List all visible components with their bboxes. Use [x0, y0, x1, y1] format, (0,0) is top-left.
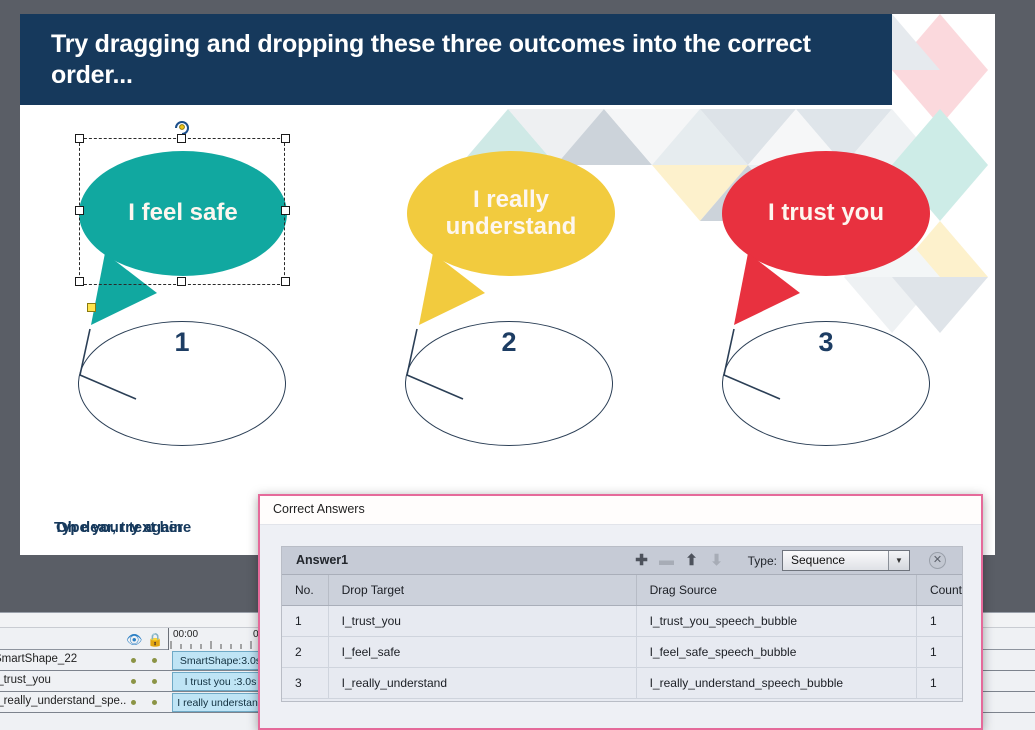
dialog-titlebar[interactable]: Correct Answers	[260, 496, 981, 525]
table-row[interactable]: 1 I_trust_you I_trust_you_speech_bubble …	[282, 605, 962, 636]
close-icon[interactable]: ✕	[929, 552, 946, 569]
resize-handle-ne[interactable]	[281, 134, 290, 143]
remove-icon[interactable]: ▬	[657, 551, 676, 570]
timeline-clip-bar[interactable]: I really understand	[172, 693, 269, 712]
type-dropdown-value: Sequence	[791, 553, 845, 567]
lock-icon[interactable]: 🔒	[147, 632, 163, 648]
bubble-label: I trust you	[722, 151, 930, 276]
bubble-label: I really understand	[407, 151, 615, 276]
cell-count[interactable]: 1	[916, 605, 962, 636]
resize-handle-e[interactable]	[281, 206, 290, 215]
placeholder-caption-text[interactable]: Type your text here	[54, 519, 191, 536]
answers-table: No. Drop Target Drag Source Count 1 I_tr…	[282, 575, 962, 699]
resize-handle-sw[interactable]	[75, 277, 84, 286]
slide-header-banner: Try dragging and dropping these three ou…	[20, 14, 892, 105]
timeline-layer-name: I_really_understand_spe..	[0, 695, 126, 707]
resize-handle-nw[interactable]	[75, 134, 84, 143]
cell-drop-target[interactable]: I_really_understand	[328, 667, 636, 698]
timeline-clip-bar[interactable]: SmartShape:3.0s	[172, 651, 269, 670]
dialog-title: Correct Answers	[273, 502, 365, 516]
cell-no: 2	[282, 636, 328, 667]
drop-target-bubble-1[interactable]: 1	[78, 321, 286, 446]
selection-bounding-box	[79, 138, 285, 285]
column-header-count: Count	[916, 575, 962, 605]
cell-drag-source[interactable]: I_trust_you_speech_bubble	[636, 605, 916, 636]
visibility-toggle[interactable]	[131, 658, 136, 663]
answers-toolbar: Answer1 ✚ ▬ ⬆ ⬇ Type: Sequence ▼ ✕	[282, 547, 962, 575]
add-icon[interactable]: ✚	[632, 551, 651, 570]
type-label: Type:	[748, 554, 777, 568]
table-header-row: No. Drop Target Drag Source Count	[282, 575, 962, 605]
drop-target-bubble-3[interactable]: 3	[722, 321, 930, 446]
resize-handle-se[interactable]	[281, 277, 290, 286]
move-down-icon[interactable]: ⬇	[707, 551, 726, 570]
cell-drop-target[interactable]: I_trust_you	[328, 605, 636, 636]
cell-drag-source[interactable]: I_really_understand_speech_bubble	[636, 667, 916, 698]
table-row[interactable]: 3 I_really_understand I_really_understan…	[282, 667, 962, 698]
resize-handle-n[interactable]	[177, 134, 186, 143]
timeline-ruler-left[interactable]: 00:00 00:0	[168, 628, 270, 650]
chevron-down-icon[interactable]: ▼	[888, 551, 909, 570]
lock-toggle[interactable]	[152, 700, 157, 705]
timeline-layer-name: I_trust_you	[0, 674, 51, 686]
visibility-toggle[interactable]	[131, 679, 136, 684]
visibility-toggle[interactable]	[131, 700, 136, 705]
rotate-handle-icon[interactable]	[173, 119, 191, 135]
column-header-drag-source: Drag Source	[636, 575, 916, 605]
move-up-icon[interactable]: ⬆	[682, 551, 701, 570]
table-row[interactable]: 2 I_feel_safe I_feel_safe_speech_bubble …	[282, 636, 962, 667]
column-header-no: No.	[282, 575, 328, 605]
cell-count[interactable]: 1	[916, 667, 962, 698]
timeline-tick-label-0: 00:00	[173, 629, 198, 640]
visibility-icon[interactable]: 👁	[126, 632, 143, 648]
lock-toggle[interactable]	[152, 679, 157, 684]
answer-group-label: Answer1	[296, 553, 348, 567]
drag-source-bubble-i-trust-you[interactable]: I trust you	[722, 151, 930, 276]
resize-handle-w[interactable]	[75, 206, 84, 215]
column-header-drop-target: Drop Target	[328, 575, 636, 605]
cell-no: 3	[282, 667, 328, 698]
tail-adjust-handle[interactable]	[87, 303, 96, 312]
drop-target-bubble-2[interactable]: 2	[405, 321, 613, 446]
cell-count[interactable]: 1	[916, 636, 962, 667]
lock-toggle[interactable]	[152, 658, 157, 663]
correct-answers-dialog[interactable]: Correct Answers Answer1 ✚ ▬ ⬆ ⬇ Type: Se…	[258, 494, 983, 730]
drag-source-bubble-i-really-understand[interactable]: I really understand	[407, 151, 615, 276]
timeline-layer-name: SmartShape_22	[0, 653, 77, 665]
page-title: Try dragging and dropping these three ou…	[20, 29, 892, 90]
type-dropdown[interactable]: Sequence ▼	[782, 550, 910, 571]
answers-table-container: Answer1 ✚ ▬ ⬆ ⬇ Type: Sequence ▼ ✕ No. D…	[281, 546, 963, 702]
resize-handle-s[interactable]	[177, 277, 186, 286]
cell-drop-target[interactable]: I_feel_safe	[328, 636, 636, 667]
cell-no: 1	[282, 605, 328, 636]
timeline-clip-bar[interactable]: I trust you :3.0s	[172, 672, 269, 691]
ruler-ticks	[169, 641, 270, 650]
app-root: Try dragging and dropping these three ou…	[0, 0, 1035, 730]
cell-drag-source[interactable]: I_feel_safe_speech_bubble	[636, 636, 916, 667]
